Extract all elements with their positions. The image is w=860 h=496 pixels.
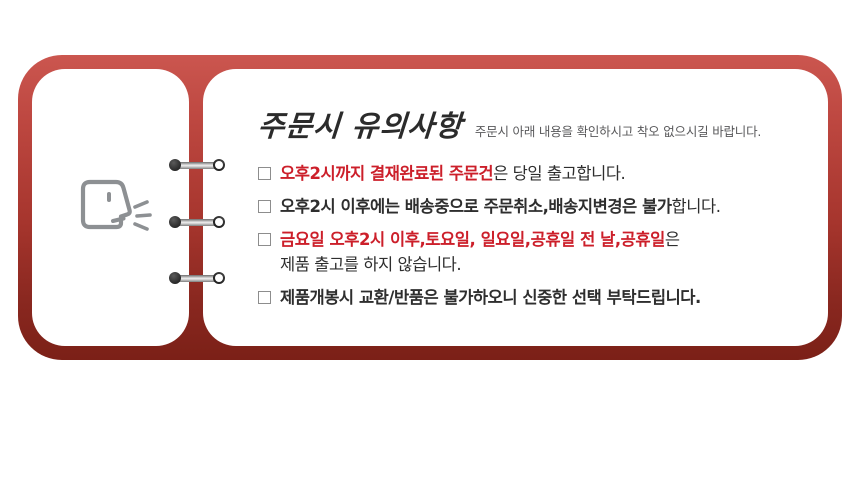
binder-ring bbox=[169, 159, 225, 171]
notice-text: 오후2시 이후에는 배송중으로 주문취소,배송지변경은 불가합니다. bbox=[280, 194, 721, 219]
notice-item: 금요일 오후2시 이후,토요일, 일요일,공휴일 전 날,공휴일은제품 출고를 … bbox=[258, 227, 806, 277]
notice-text-segment: 은 bbox=[665, 230, 680, 249]
notice-item: 제품개봉시 교환/반품은 불가하오니 신중한 선택 부탁드립니다. bbox=[258, 285, 806, 310]
notice-text: 오후2시까지 결재완료된 주문건은 당일 출고합니다. bbox=[280, 161, 625, 186]
notice-text-segment: 은 당일 출고합니다. bbox=[493, 164, 625, 183]
checkbox-icon[interactable] bbox=[258, 233, 271, 246]
binder-ring-cap-left bbox=[169, 159, 181, 171]
notice-text: 금요일 오후2시 이후,토요일, 일요일,공휴일 전 날,공휴일은제품 출고를 … bbox=[280, 227, 680, 277]
binder-ring-cap-right bbox=[213, 159, 225, 171]
binder-ring-bar bbox=[176, 219, 218, 226]
binder-ring-cap-left bbox=[169, 216, 181, 228]
binder-ring bbox=[169, 216, 225, 228]
notice-text-segment: 오후2시까지 결재완료된 주문건 bbox=[280, 164, 493, 183]
binder-ring bbox=[169, 272, 225, 284]
notice-text-segment: 오후2시 이후에는 배송중으로 주문취소,배송지변경은 불가 bbox=[280, 197, 672, 216]
binder-ring-cap-right bbox=[213, 272, 225, 284]
notice-text-segment: 합니다. bbox=[672, 197, 721, 216]
notice-text: 제품개봉시 교환/반품은 불가하오니 신중한 선택 부탁드립니다. bbox=[280, 285, 701, 310]
notice-list: 오후2시까지 결재완료된 주문건은 당일 출고합니다.오후2시 이후에는 배송중… bbox=[258, 161, 806, 310]
notice-content: 주문시 유의사항 주문시 아래 내용을 확인하시고 착오 없으시길 바랍니다. … bbox=[258, 103, 806, 318]
binder-ring-bar bbox=[176, 275, 218, 282]
notice-item: 오후2시 이후에는 배송중으로 주문취소,배송지변경은 불가합니다. bbox=[258, 194, 806, 219]
checkbox-icon[interactable] bbox=[258, 291, 271, 304]
checkbox-icon[interactable] bbox=[258, 167, 271, 180]
heading-row: 주문시 유의사항 주문시 아래 내용을 확인하시고 착오 없으시길 바랍니다. bbox=[258, 103, 806, 145]
speaking-head-announcement-icon bbox=[77, 177, 157, 249]
left-page-panel bbox=[32, 69, 189, 346]
notice-text-segment: 제품개봉시 교환/반품은 불가하오니 신중한 선택 부탁드립니다. bbox=[280, 288, 701, 307]
binder-ring-cap-left bbox=[169, 272, 181, 284]
right-page-panel: 주문시 유의사항 주문시 아래 내용을 확인하시고 착오 없으시길 바랍니다. … bbox=[203, 69, 828, 346]
binder-ring-bar bbox=[176, 162, 218, 169]
notice-text-segment: 제품 출고를 하지 않습니다. bbox=[280, 255, 461, 274]
page-title: 주문시 유의사항 bbox=[257, 103, 465, 145]
page-subtitle: 주문시 아래 내용을 확인하시고 착오 없으시길 바랍니다. bbox=[475, 121, 761, 140]
checkbox-icon[interactable] bbox=[258, 200, 271, 213]
binder-ring-cap-right bbox=[213, 216, 225, 228]
notice-item: 오후2시까지 결재완료된 주문건은 당일 출고합니다. bbox=[258, 161, 806, 186]
notice-text-segment: 금요일 오후2시 이후,토요일, 일요일,공휴일 전 날,공휴일 bbox=[280, 230, 665, 249]
notice-card: 주문시 유의사항 주문시 아래 내용을 확인하시고 착오 없으시길 바랍니다. … bbox=[18, 55, 842, 360]
